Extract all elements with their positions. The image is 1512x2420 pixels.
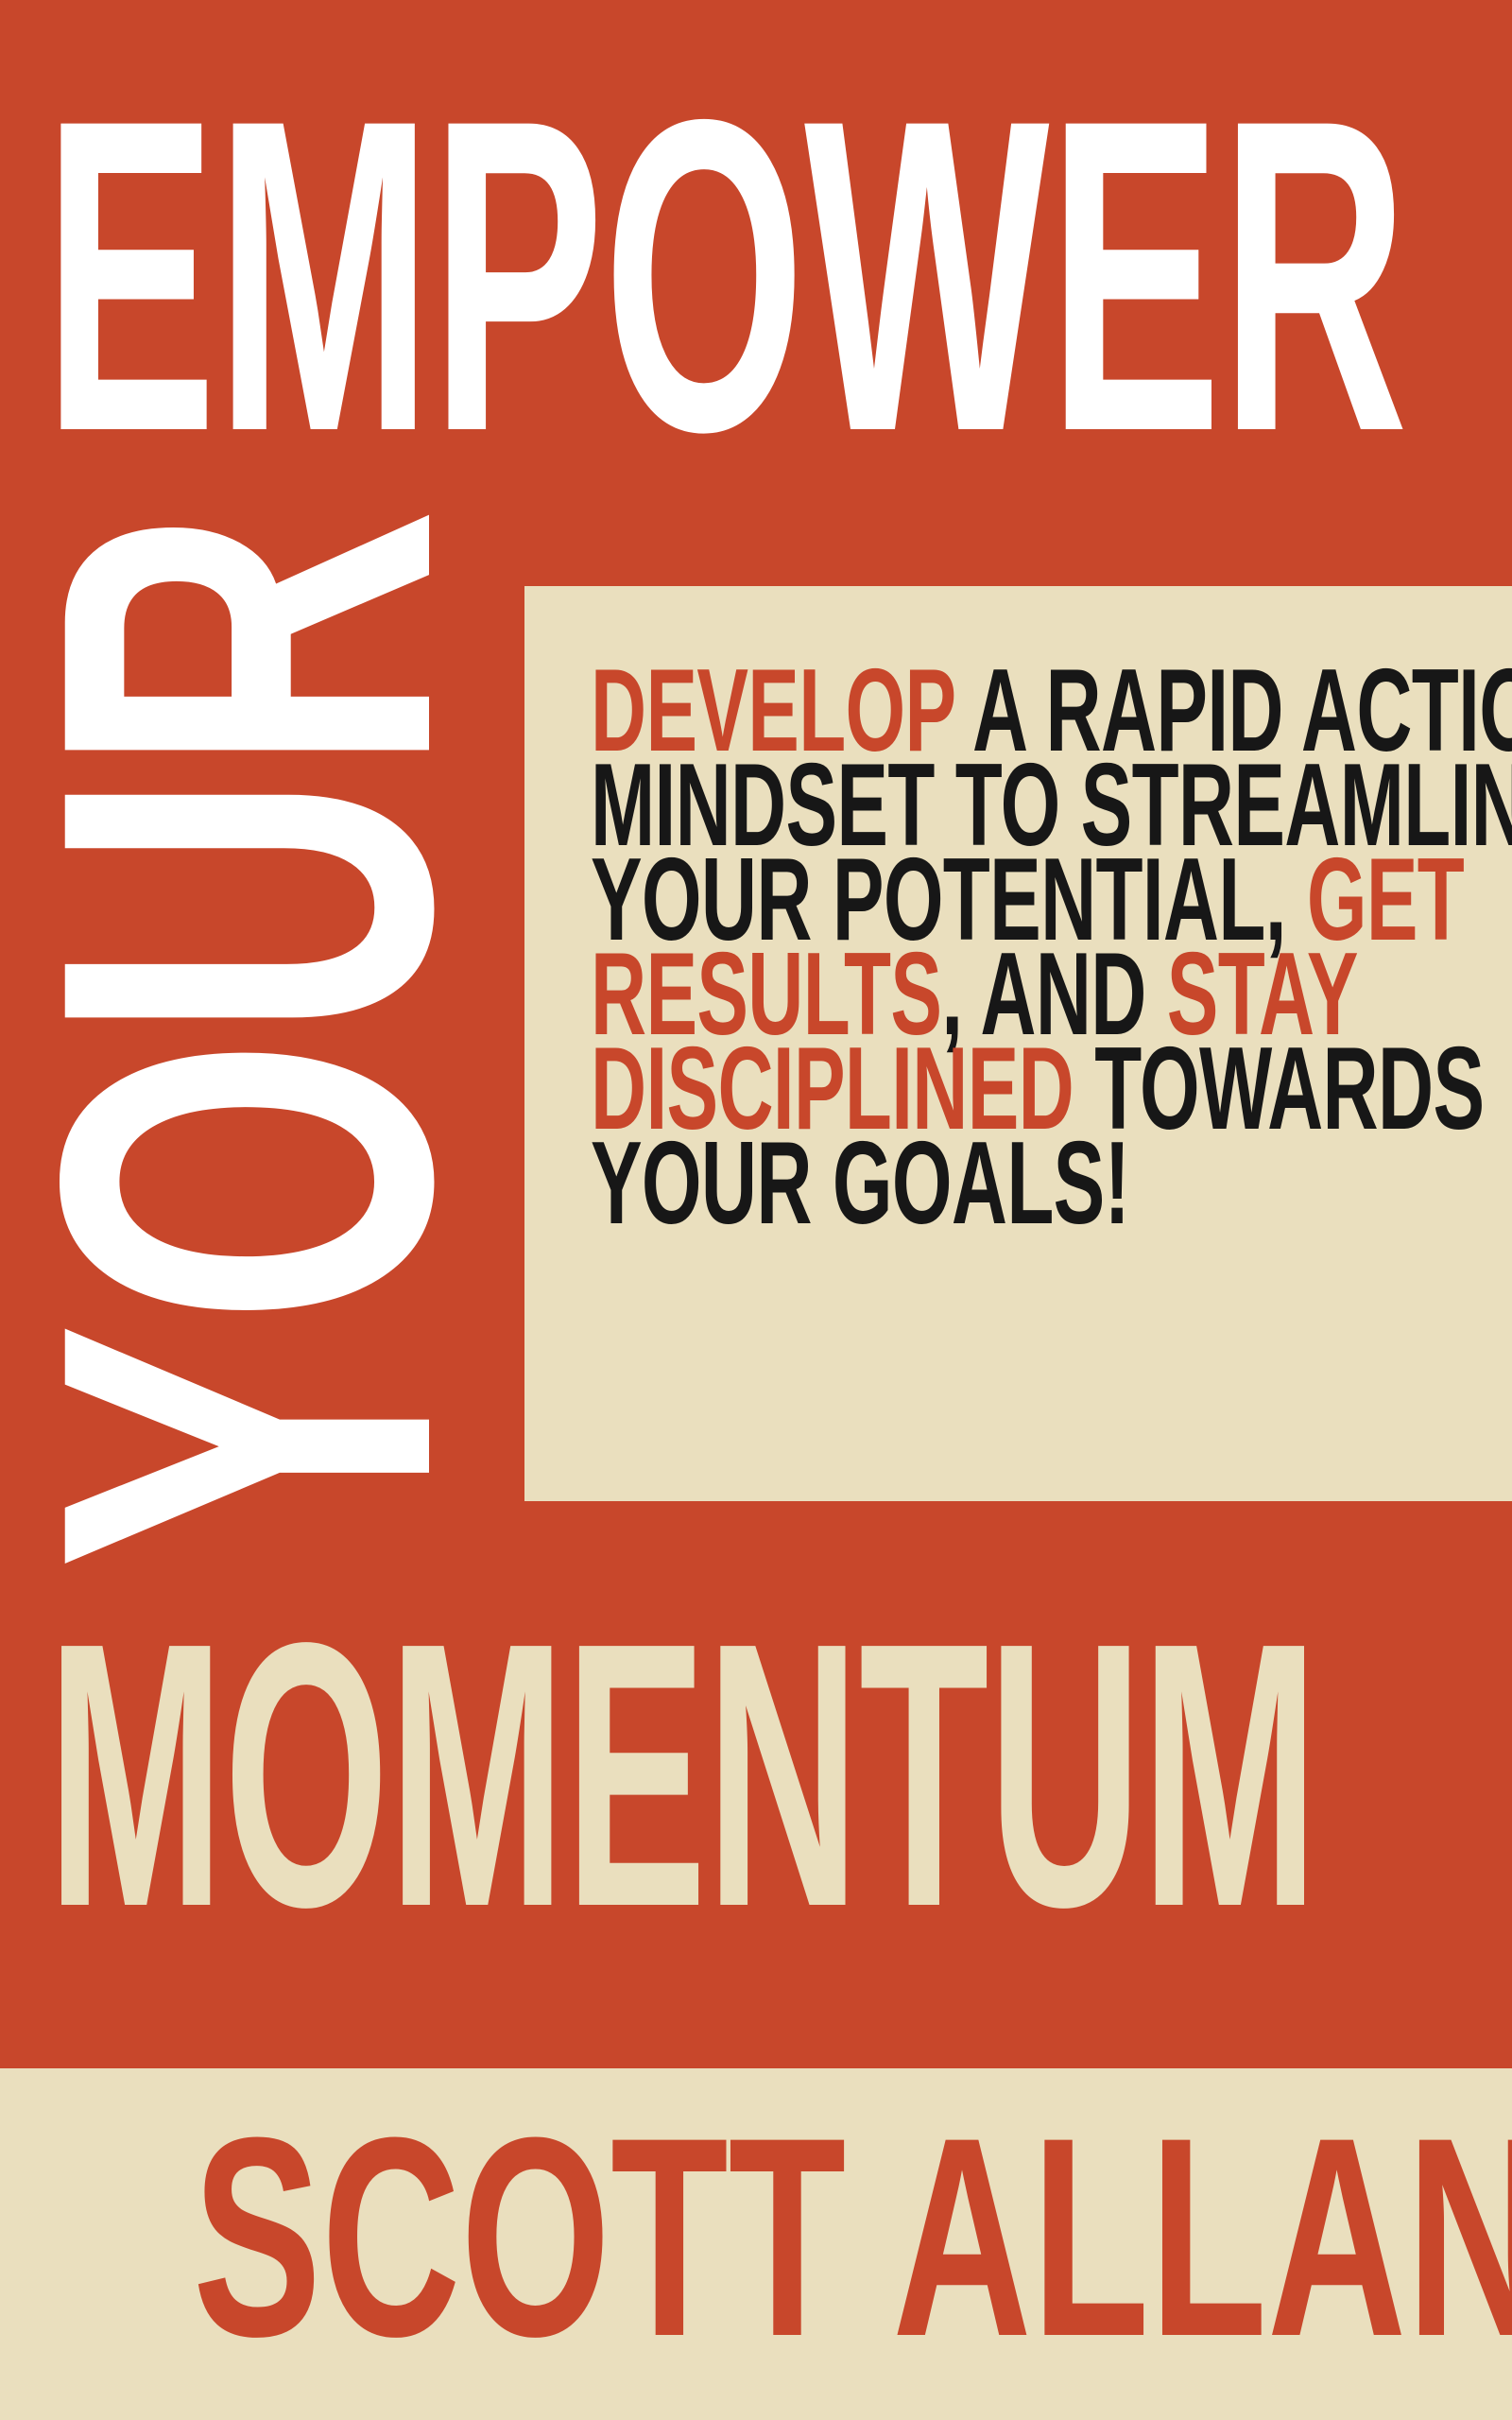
author-band: SCOTT ALLAN	[0, 2068, 1512, 2420]
book-cover: EMPOWER YOUR DEVELOP A RAPID ACTIONMINDS…	[0, 0, 1512, 2420]
subtitle-panel: DEVELOP A RAPID ACTIONMINDSET TO STREAML…	[524, 586, 1512, 1501]
subtitle-text-block: DEVELOP A RAPID ACTIONMINDSET TO STREAML…	[591, 664, 1479, 1231]
title-line-your: YOUR	[24, 510, 468, 1569]
subtitle-run: YOUR GOALS!	[591, 1118, 1129, 1249]
title-line-your-container: YOUR	[0, 567, 491, 1512]
title-line-empower: EMPOWER	[43, 78, 1469, 475]
subtitle-run: TOWARDS	[1074, 1024, 1484, 1154]
title-line-momentum: MOMENTUM	[47, 1596, 1489, 1955]
subtitle-line-6: YOUR GOALS!	[591, 1136, 1479, 1231]
author-name: SCOTT ALLAN	[193, 2104, 1324, 2369]
